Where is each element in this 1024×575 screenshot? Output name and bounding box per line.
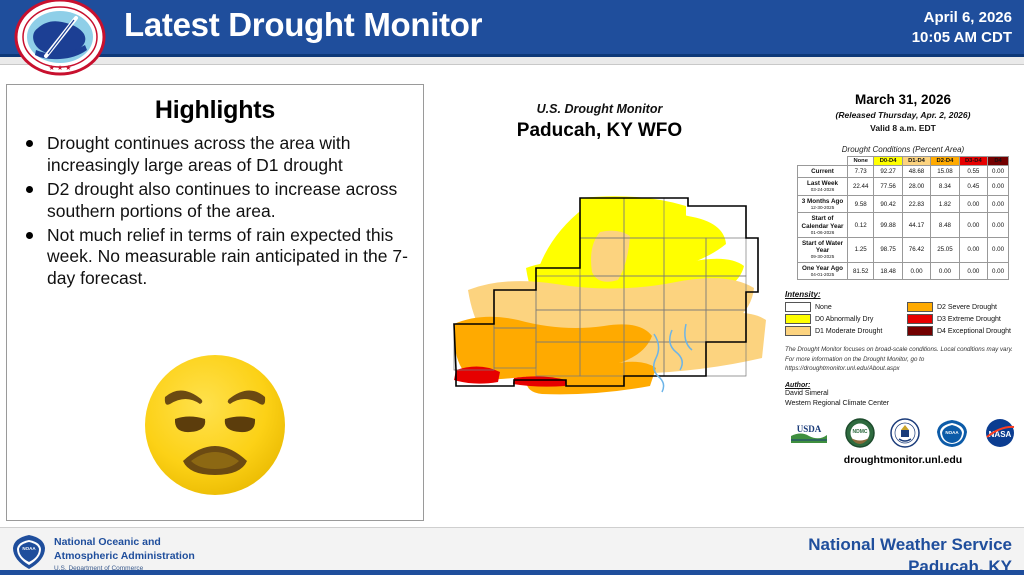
row-label-text: Start of Water Year [802, 240, 843, 254]
nws-seal-logo: ★ ★ ★ [6, 0, 114, 76]
cell: 1.82 [931, 195, 959, 213]
legend-label: None [815, 304, 832, 311]
cell: 0.00 [988, 238, 1009, 263]
cell: 98.75 [874, 238, 902, 263]
col-header-d3: D3-D4 [959, 157, 987, 166]
row-label: Start of Calendar Year01-06-2026 [798, 213, 848, 238]
usda-seal-logo [890, 418, 920, 448]
cell: 28.00 [902, 178, 930, 196]
legend-swatch-d2 [907, 302, 933, 312]
table-row: Start of Calendar Year01-06-2026 0.12 99… [798, 213, 1009, 238]
intensity-header: Intensity: [785, 290, 1021, 299]
header-accent-bar [0, 57, 1024, 65]
cell: 0.00 [959, 195, 987, 213]
row-label: One Year Ago04-01-2025 [798, 262, 848, 280]
noaa-line2: Atmospheric Administration [54, 550, 195, 562]
author-name: David Simeral [785, 389, 1021, 399]
dm-valid-time: Valid 8 a.m. EDT [785, 123, 1021, 133]
dm-subtitle: U.S. Drought Monitor [430, 102, 769, 116]
legend-item-d1: D1 Moderate Drought [785, 326, 899, 336]
cell: 99.88 [874, 213, 902, 238]
cell: 9.58 [848, 195, 874, 213]
dm-valid-date: March 31, 2026 [785, 92, 1021, 107]
cell: 8.48 [931, 213, 959, 238]
intensity-legend: None D2 Severe Drought D0 Abnormally Dry… [785, 302, 1021, 336]
noaa-footer-logo: NOAA [12, 534, 46, 575]
highlights-list: Drought continues across the area with i… [21, 133, 415, 290]
row-label-text: Start of Calendar Year [802, 215, 844, 229]
table-caption: Drought Conditions (Percent Area) [785, 145, 1021, 154]
legend-label: D4 Exceptional Drought [937, 328, 1011, 335]
legend-item-d2: D2 Severe Drought [907, 302, 1021, 312]
legend-label: D1 Moderate Drought [815, 328, 882, 335]
legend-item-d4: D4 Exceptional Drought [907, 326, 1021, 336]
ndmc-logo: NDMC [845, 418, 875, 448]
col-header-d4: D4 [988, 157, 1009, 166]
cell: 0.45 [959, 178, 987, 196]
row-label-text: One Year Ago [802, 265, 843, 272]
highlights-title: Highlights [7, 96, 423, 125]
row-label: Last Week03-24-2026 [798, 178, 848, 196]
highlights-panel: Highlights Drought continues across the … [6, 84, 424, 521]
legend-label: D0 Abnormally Dry [815, 316, 873, 323]
table-row: One Year Ago04-01-2025 81.52 18.48 0.00 … [798, 262, 1009, 280]
row-label-text: Current [811, 168, 834, 175]
office-name: National Weather Service [808, 534, 1012, 556]
legend-swatch-d4 [907, 326, 933, 336]
cell: 81.52 [848, 262, 874, 280]
cell: 25.05 [931, 238, 959, 263]
cell: 90.42 [874, 195, 902, 213]
header-datetime: April 6, 2026 10:05 AM CDT [912, 8, 1012, 49]
noaa-line1: National Oceanic and [54, 536, 161, 548]
legend-swatch-d0 [785, 314, 811, 324]
row-label: 3 Months Ago12-30-2025 [798, 195, 848, 213]
office-identity: National Weather Service Paducah, KY [808, 534, 1012, 575]
row-label-date: 04-01-2025 [799, 272, 846, 277]
cell: 0.00 [959, 213, 987, 238]
cell: 0.00 [959, 238, 987, 263]
slide-page: ★ ★ ★ Latest Drought Monitor April 6, 20… [0, 0, 1024, 575]
cell: 77.56 [874, 178, 902, 196]
cell: 76.42 [902, 238, 930, 263]
cell: 0.55 [959, 166, 987, 178]
table-row: Start of Water Year09-30-2025 1.25 98.75… [798, 238, 1009, 263]
legend-label: D3 Extreme Drought [937, 316, 1001, 323]
cell: 1.25 [848, 238, 874, 263]
drought-map [440, 172, 780, 422]
col-header-d1: D1-D4 [902, 157, 930, 166]
cell: 0.00 [959, 262, 987, 280]
legend-swatch-d3 [907, 314, 933, 324]
table-row: Last Week03-24-2026 22.44 77.56 28.00 8.… [798, 178, 1009, 196]
row-label: Current [798, 166, 848, 178]
legend-item-d3: D3 Extreme Drought [907, 314, 1021, 324]
list-item-text: Drought continues across the area with i… [47, 133, 351, 175]
svg-text:NOAA: NOAA [945, 430, 959, 435]
table-header-row: None D0-D4 D1-D4 D2-D4 D3-D4 D4 [798, 157, 1009, 166]
dm-disclaimer: The Drought Monitor focuses on broad-sca… [785, 345, 1021, 373]
corner-cell [798, 157, 848, 166]
dm-data-column: March 31, 2026 (Released Thursday, Apr. … [785, 92, 1021, 466]
author-header: Author: [785, 382, 1021, 389]
table-row: Current 7.73 92.27 48.68 15.08 0.55 0.00 [798, 166, 1009, 178]
row-label-text: Last Week [807, 180, 838, 187]
col-header-d0: D0-D4 [874, 157, 902, 166]
cell: 0.12 [848, 213, 874, 238]
cell: 18.48 [874, 262, 902, 280]
dm-title: Paducah, KY WFO [430, 120, 769, 142]
bullet-icon [26, 140, 33, 147]
noaa-logo: NOAA [936, 418, 968, 448]
svg-text:NDMC: NDMC [852, 429, 867, 435]
header-time: 10:05 AM CDT [912, 28, 1012, 48]
list-item-text: Not much relief in terms of rain expecte… [47, 225, 408, 289]
page-footer: NOAA National Oceanic and Atmospheric Ad… [0, 527, 1024, 575]
noaa-footer-text: National Oceanic and Atmospheric Adminis… [54, 535, 195, 574]
cell: 92.27 [874, 166, 902, 178]
col-header-none: None [848, 157, 874, 166]
cell: 0.00 [902, 262, 930, 280]
bullet-icon [26, 186, 33, 193]
drought-monitor-panel: U.S. Drought Monitor Paducah, KY WFO [430, 72, 1024, 524]
cell: 0.00 [988, 262, 1009, 280]
dm-url: droughtmonitor.unl.edu [785, 454, 1021, 466]
page-title: Latest Drought Monitor [124, 6, 482, 44]
svg-text:★ ★ ★: ★ ★ ★ [49, 64, 72, 72]
row-label-date: 09-30-2025 [799, 254, 846, 259]
partner-logos: USDA NDMC [785, 418, 1021, 448]
row-label-text: 3 Months Ago [802, 198, 843, 205]
row-label-date: 01-06-2026 [799, 230, 846, 235]
cell: 0.00 [988, 195, 1009, 213]
cell: 44.17 [902, 213, 930, 238]
weary-face-emoji [139, 349, 291, 501]
bullet-icon [26, 232, 33, 239]
emoji-container [7, 349, 423, 501]
cell: 15.08 [931, 166, 959, 178]
legend-label: D2 Severe Drought [937, 304, 997, 311]
drought-conditions-table: None D0-D4 D1-D4 D2-D4 D3-D4 D4 Current … [797, 156, 1009, 280]
footer-accent-bar [0, 570, 1024, 575]
legend-item-none: None [785, 302, 899, 312]
legend-swatch-none [785, 302, 811, 312]
cell: 8.34 [931, 178, 959, 196]
cell: 0.00 [988, 166, 1009, 178]
cell: 0.00 [931, 262, 959, 280]
author-org: Western Regional Climate Center [785, 399, 1021, 409]
legend-item-d0: D0 Abnormally Dry [785, 314, 899, 324]
row-label-date: 12-30-2025 [799, 205, 846, 210]
table-row: 3 Months Ago12-30-2025 9.58 90.42 22.83 … [798, 195, 1009, 213]
col-header-d2: D2-D4 [931, 157, 959, 166]
cell: 48.68 [902, 166, 930, 178]
cell: 0.00 [988, 213, 1009, 238]
cell: 0.00 [988, 178, 1009, 196]
cell: 22.44 [848, 178, 874, 196]
svg-text:NOAA: NOAA [22, 546, 36, 551]
cell: 22.83 [902, 195, 930, 213]
list-item: D2 drought also continues to increase ac… [21, 179, 415, 223]
header-date: April 6, 2026 [912, 8, 1012, 28]
list-item: Not much relief in terms of rain expecte… [21, 225, 415, 291]
page-header: ★ ★ ★ Latest Drought Monitor April 6, 20… [0, 0, 1024, 57]
usda-logo: USDA [789, 419, 829, 447]
row-label: Start of Water Year09-30-2025 [798, 238, 848, 263]
dm-released: (Released Thursday, Apr. 2, 2026) [785, 110, 1021, 120]
legend-swatch-d1 [785, 326, 811, 336]
list-item-text: D2 drought also continues to increase ac… [47, 179, 397, 221]
list-item: Drought continues across the area with i… [21, 133, 415, 177]
row-label-date: 03-24-2026 [799, 187, 846, 192]
cell: 7.73 [848, 166, 874, 178]
svg-text:USDA: USDA [797, 424, 822, 434]
nasa-logo: NASA [983, 418, 1017, 448]
